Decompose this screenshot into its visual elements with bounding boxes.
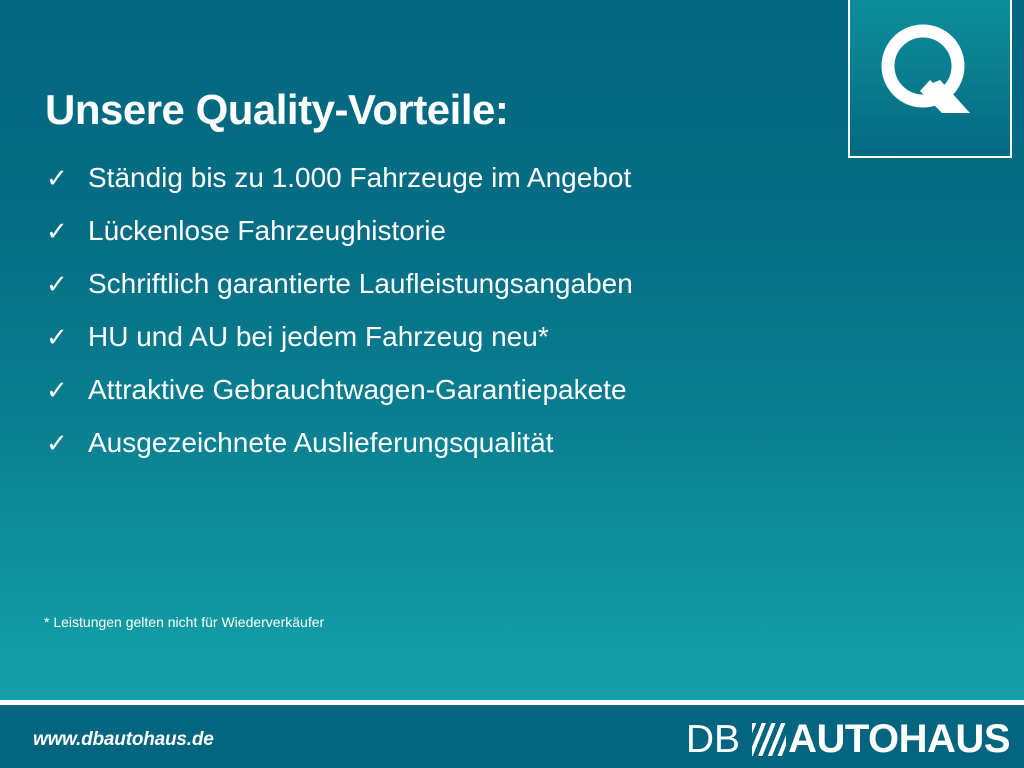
check-icon: ✓ [46,165,88,191]
brand-name: AUTOHAUS [788,719,1010,759]
check-icon: ✓ [46,377,88,403]
list-item: ✓ Lückenlose Fahrzeughistorie [46,215,826,268]
list-item: ✓ Ausgezeichnete Auslieferungsqualität [46,427,826,480]
brand-prefix: DB [686,720,740,759]
list-item-label: Schriftlich garantierte Laufleistungsang… [88,268,633,300]
promo-slide: Unsere Quality-Vorteile: ✓ Ständig bis z… [0,0,1024,768]
list-item-label: Lückenlose Fahrzeughistorie [88,215,446,247]
check-icon: ✓ [46,430,88,456]
list-item: ✓ Attraktive Gebrauchtwagen-Garantiepake… [46,374,826,427]
list-item-label: Ständig bis zu 1.000 Fahrzeuge im Angebo… [88,162,631,194]
list-item-label: Attraktive Gebrauchtwagen-Garantiepakete [88,374,627,406]
stripes-icon [752,723,786,756]
brand-logo: DB AUTOHAUS [686,718,1010,760]
check-icon: ✓ [46,271,88,297]
list-item-label: HU und AU bei jedem Fahrzeug neu* [88,321,549,353]
list-item: ✓ Schriftlich garantierte Laufleistungsa… [46,268,826,321]
check-icon: ✓ [46,324,88,350]
benefits-list: ✓ Ständig bis zu 1.000 Fahrzeuge im Ange… [46,162,826,480]
list-item: ✓ Ständig bis zu 1.000 Fahrzeuge im Ange… [46,162,826,215]
footnote-text: * Leistungen gelten nicht für Wiederverk… [44,614,324,630]
list-item: ✓ HU und AU bei jedem Fahrzeug neu* [46,321,826,374]
quality-q-icon [870,16,990,136]
quality-badge [848,0,1012,158]
page-title: Unsere Quality-Vorteile: [45,86,508,134]
website-url[interactable]: www.dbautohaus.de [33,729,214,751]
check-icon: ✓ [46,218,88,244]
list-item-label: Ausgezeichnete Auslieferungsqualität [88,427,553,459]
